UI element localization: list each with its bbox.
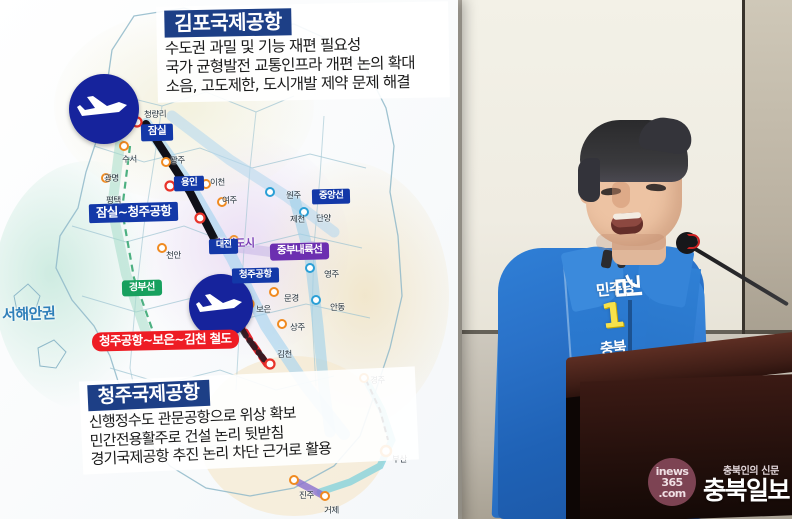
city-label: 천안	[166, 249, 181, 261]
city-label: 보은	[256, 303, 271, 315]
news-watermark: inews 365 .com 충북인의 신문 충북일보	[648, 458, 789, 506]
city-label: 원주	[286, 189, 301, 201]
chip-gyeongbu-line: 경부선	[122, 280, 162, 297]
city-label: 진주	[299, 489, 314, 501]
projection-screen: 서해안권 혁신도시 잠실~청주공항 청주공항~보은~김천 철도 경부선 중부내륙…	[0, 0, 458, 519]
chip-jamsil-station: 잠실	[141, 124, 174, 141]
city-label: 안동	[330, 301, 345, 313]
gimpo-airport-info-panel: 김포국제공항 수도권 과밀 및 기능 재편 필요성 국가 균형발전 교통인프라 …	[156, 1, 450, 103]
sash-candidate-name: 김	[608, 272, 650, 299]
press-conference-photo: 서해안권 혁신도시 잠실~청주공항 청주공항~보은~김천 철도 경부선 중부내륙…	[0, 0, 792, 519]
region-label-west-coast: 서해안권	[2, 302, 56, 325]
city-label: 김천	[277, 348, 292, 360]
city-label: 상주	[290, 321, 305, 333]
chip-cheongju-boeun-gimcheon-rail: 청주공항~보은~김천 철도	[92, 329, 239, 351]
speaker-hair-sideburn	[578, 158, 600, 202]
chip-jamsil-cheongju-route: 잠실~청주공항	[89, 202, 179, 223]
cheongju-airport-info-panel: 청주국제공항 신행정수도 관문공항으로 위상 확보 민간전용활주로 건설 논리 …	[79, 366, 419, 474]
city-label: 영주	[324, 268, 339, 280]
chip-jungang-line: 중앙선	[312, 189, 351, 205]
city-label: 이천	[210, 176, 225, 188]
city-label: 수서	[122, 153, 137, 165]
watermark-title: 충북일보	[703, 478, 789, 503]
inews365-logo: inews 365 .com	[648, 458, 696, 506]
city-label: 청량리	[144, 108, 167, 121]
logo-line-2: 365	[661, 477, 682, 488]
cheongju-panel-title: 청주국제공항	[87, 380, 210, 412]
city-label: 광명	[104, 172, 119, 184]
logo-line-3: .com	[658, 488, 685, 499]
chip-cheongju-airport-station: 청주공항	[232, 267, 279, 284]
city-label: 문경	[284, 292, 299, 304]
city-label: 단양	[316, 212, 331, 224]
city-label: 제천	[290, 213, 305, 225]
gimpo-panel-line-3: 소음, 고도제한, 도시개발 제약 문제 해결	[165, 73, 441, 97]
gimpo-panel-title: 김포국제공항	[164, 8, 292, 38]
city-label: 평택	[106, 194, 121, 206]
watermark-subtitle: 충북인의 신문	[723, 462, 789, 477]
chip-yongin-station: 용인	[174, 176, 205, 192]
city-label: 여주	[222, 194, 237, 206]
gimpo-airport-plane-icon	[69, 74, 139, 144]
speaker-nose	[612, 182, 630, 208]
logo-line-1: inews	[656, 466, 689, 477]
speaker-chin-shadow	[596, 234, 666, 250]
chip-jungbu-naeryuk-line: 중부내륙선	[270, 242, 330, 260]
city-label: 거제	[324, 504, 339, 516]
city-label: 광주	[170, 154, 185, 166]
sash-candidate-number: 1	[599, 295, 627, 337]
chip-daejeon-station: 대전	[209, 239, 239, 255]
cheongju-airport-plane-icon	[189, 274, 253, 338]
